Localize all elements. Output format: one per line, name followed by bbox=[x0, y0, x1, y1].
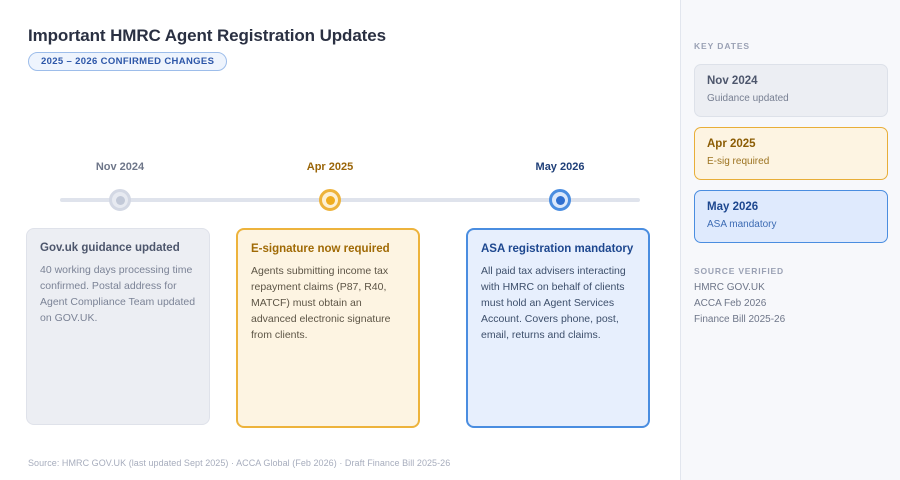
card-heading: Gov.uk guidance updated bbox=[40, 241, 196, 255]
sidebar-source-verified: SOURCE VERIFIED HMRC GOV.UK ACCA Feb 202… bbox=[694, 266, 894, 328]
sidebar-item-date: Apr 2025 bbox=[707, 137, 875, 152]
timeline-dot-icon bbox=[109, 189, 131, 211]
milestone-card-guidance[interactable]: Gov.uk guidance updated 40 working days … bbox=[26, 228, 210, 425]
sidebar: KEY DATES Nov 2024 Guidance updated Apr … bbox=[680, 0, 900, 480]
sidebar-item-nov-2024[interactable]: Nov 2024 Guidance updated bbox=[694, 64, 888, 117]
sidebar-kicker-source-verified: SOURCE VERIFIED bbox=[694, 266, 894, 276]
sidebar-item-date: Nov 2024 bbox=[707, 74, 875, 89]
sidebar-item-note: Guidance updated bbox=[707, 91, 875, 106]
milestone-card-esignature[interactable]: E-signature now required Agents submitti… bbox=[236, 228, 420, 428]
timeline-node-may-2026[interactable]: May 2026 bbox=[480, 160, 640, 174]
sidebar-item-apr-2025[interactable]: Apr 2025 E-sig required bbox=[694, 127, 888, 180]
sidebar-key-dates-list: Nov 2024 Guidance updated Apr 2025 E-sig… bbox=[694, 64, 888, 253]
card-body: Agents submitting income tax repayment c… bbox=[251, 263, 405, 343]
infographic-page: Important HMRC Agent Registration Update… bbox=[0, 0, 900, 480]
status-badge: 2025 – 2026 CONFIRMED CHANGES bbox=[28, 52, 227, 71]
timeline-dot-icon bbox=[549, 189, 571, 211]
card-heading: E-signature now required bbox=[251, 242, 405, 256]
source-verified-item: ACCA Feb 2026 bbox=[694, 296, 894, 312]
source-verified-item: HMRC GOV.UK bbox=[694, 280, 894, 296]
sidebar-item-note: ASA mandatory bbox=[707, 217, 875, 232]
timeline: Nov 2024 Apr 2025 May 2026 bbox=[0, 160, 680, 220]
timeline-dot-icon bbox=[319, 189, 341, 211]
timeline-label: May 2026 bbox=[480, 160, 640, 174]
timeline-node-nov-2024[interactable]: Nov 2024 bbox=[40, 160, 200, 174]
main-content: Important HMRC Agent Registration Update… bbox=[0, 0, 680, 480]
timeline-node-apr-2025[interactable]: Apr 2025 bbox=[250, 160, 410, 174]
milestone-cards: Gov.uk guidance updated 40 working days … bbox=[0, 228, 680, 433]
timeline-label: Nov 2024 bbox=[40, 160, 200, 174]
source-verified-item: Finance Bill 2025-26 bbox=[694, 312, 894, 328]
page-title: Important HMRC Agent Registration Update… bbox=[28, 26, 386, 46]
sidebar-item-note: E-sig required bbox=[707, 154, 875, 169]
milestone-card-asa[interactable]: ASA registration mandatory All paid tax … bbox=[466, 228, 650, 428]
sidebar-item-date: May 2026 bbox=[707, 200, 875, 215]
timeline-label: Apr 2025 bbox=[250, 160, 410, 174]
card-body: All paid tax advisers interacting with H… bbox=[481, 263, 635, 343]
sidebar-kicker-key-dates: KEY DATES bbox=[694, 41, 750, 51]
card-body: 40 working days processing time confirme… bbox=[40, 262, 196, 326]
sidebar-item-may-2026[interactable]: May 2026 ASA mandatory bbox=[694, 190, 888, 243]
card-heading: ASA registration mandatory bbox=[481, 242, 635, 256]
source-footnote: Source: HMRC GOV.UK (last updated Sept 2… bbox=[28, 458, 450, 468]
